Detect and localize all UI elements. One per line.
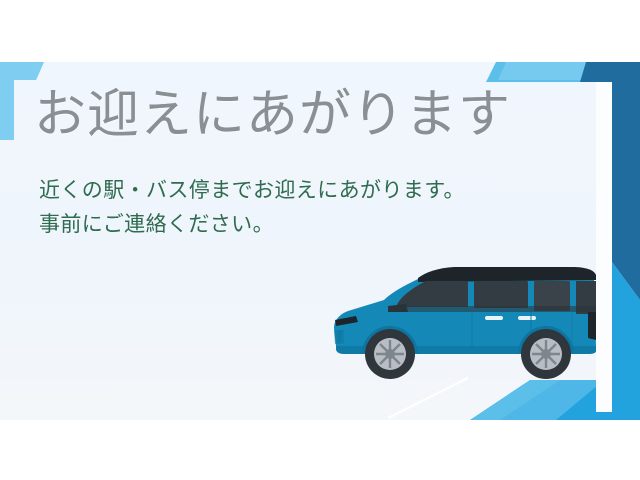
banner-canvas: お迎えにあがります 近くの駅・バス停までお迎えにあがります。 事前にご連絡くださ…: [0, 0, 640, 480]
car-roof: [418, 267, 596, 282]
car-front-door-glass: [474, 281, 528, 308]
car-door-handle-front: [485, 316, 503, 320]
minivan-illustration: [322, 250, 622, 382]
text-block: お迎えにあがります 近くの駅・バス停までお迎えにあがります。 事前にご連絡くださ…: [34, 88, 594, 241]
subtitle-line-2: 事前にご連絡ください。: [39, 207, 594, 241]
car-door-handle-rear: [518, 316, 536, 320]
car-front-wheel: [365, 329, 415, 379]
subtitle-group: 近くの駅・バス停までお迎えにあがります。 事前にご連絡ください。: [34, 173, 594, 241]
car-beltline-trim: [392, 306, 596, 312]
car-rear-wheel: [521, 329, 571, 379]
page-title: お迎えにあがります: [34, 88, 594, 143]
car-taillight: [588, 312, 596, 340]
subtitle-line-1: 近くの駅・バス停までお迎えにあがります。: [39, 173, 594, 207]
